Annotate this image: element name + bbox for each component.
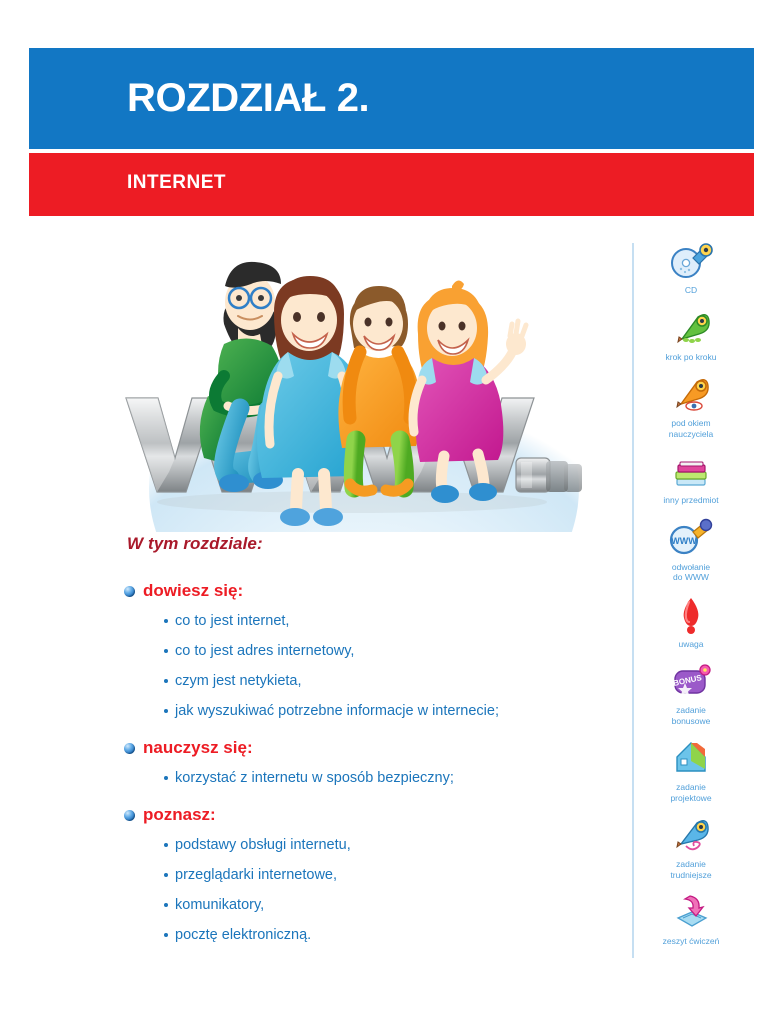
legend-sidebar: CD krok po kroku xyxy=(645,240,737,958)
list-item-label: co to jest internet, xyxy=(175,613,289,629)
legend-item-zadanie-projektowe: zadanie projektowe xyxy=(645,737,737,803)
list-item-label: pocztę elektroniczną. xyxy=(175,927,311,943)
legend-label: zadanie bonusowe xyxy=(645,705,737,726)
list-item: co to jest adres internetowy, xyxy=(175,642,604,661)
section-heading: W tym rozdziale: xyxy=(127,534,604,554)
list-item-label: co to jest adres internetowy, xyxy=(175,643,354,659)
sphere-bullet-icon xyxy=(124,586,135,597)
chapter-banner-red: INTERNET xyxy=(29,153,754,216)
svg-text:WWW: WWW xyxy=(671,536,697,546)
group-title-poznasz: poznasz: xyxy=(124,804,604,826)
objective-list: korzystać z internetu w sposób bezpieczn… xyxy=(124,769,604,788)
objective-group: dowiesz się: co to jest internet, co to … xyxy=(124,580,604,721)
dot-bullet-icon xyxy=(164,619,168,623)
dot-bullet-icon xyxy=(164,903,168,907)
book-stack-icon xyxy=(645,450,737,492)
blue-pen-icon xyxy=(645,814,737,856)
legend-item-uwaga: uwaga xyxy=(645,594,737,650)
list-item: przeglądarki internetowe, xyxy=(175,866,604,885)
objective-group: nauczysz się: korzystać z internetu w sp… xyxy=(124,737,604,788)
objective-list: co to jest internet, co to jest adres in… xyxy=(124,612,604,721)
legend-label: zadanie trudniejsze xyxy=(645,859,737,880)
group-title-label: nauczysz się: xyxy=(143,738,253,757)
chapter-banner-blue: ROZDZIAŁ 2. xyxy=(29,48,754,149)
list-item-label: podstawy obsługi internetu, xyxy=(175,837,351,853)
house-icon xyxy=(645,737,737,779)
legend-label: zadanie projektowe xyxy=(645,782,737,803)
www-magnifier-icon: WWW xyxy=(645,517,737,559)
group-title-label: poznasz: xyxy=(143,805,216,824)
dot-bullet-icon xyxy=(164,933,168,937)
legend-item-pod-okiem-nauczyciela: pod okiem nauczyciela xyxy=(645,373,737,439)
legend-item-zadanie-bonusowe: BONUS zadanie bonusowe xyxy=(645,660,737,726)
dot-bullet-icon xyxy=(164,679,168,683)
list-item-label: korzystać z internetu w sposób bezpieczn… xyxy=(175,770,454,786)
orange-pen-eye-icon xyxy=(645,373,737,415)
list-item: korzystać z internetu w sposób bezpieczn… xyxy=(175,769,604,788)
list-item-label: komunikatory, xyxy=(175,897,264,913)
legend-label: odwołanie do WWW xyxy=(645,562,737,583)
chapter-contents: W tym rozdziale: dowiesz się: co to jest… xyxy=(124,534,604,961)
list-item: jak wyszukiwać potrzebne informacje w in… xyxy=(175,702,604,721)
group-title-nauczysz-sie: nauczysz się: xyxy=(124,737,604,759)
list-item-label: jak wyszukiwać potrzebne informacje w in… xyxy=(175,703,499,719)
page-title: ROZDZIAŁ 2. xyxy=(127,74,369,122)
bonus-badge-icon: BONUS xyxy=(645,660,737,702)
legend-label: inny przedmiot xyxy=(645,495,737,506)
list-item: co to jest internet, xyxy=(175,612,604,631)
sphere-bullet-icon xyxy=(124,810,135,821)
cd-disc-icon xyxy=(645,240,737,282)
chapter-subtitle: INTERNET xyxy=(127,172,226,194)
legend-label: CD xyxy=(645,285,737,296)
sphere-bullet-icon xyxy=(124,743,135,754)
www-kids-illustration xyxy=(112,240,612,532)
legend-item-odwolanie-do-www: WWW odwołanie do WWW xyxy=(645,517,737,583)
list-item: czym jest netykieta, xyxy=(175,672,604,691)
objective-group: poznasz: podstawy obsługi internetu, prz… xyxy=(124,804,604,945)
legend-item-krok-po-kroku: krok po kroku xyxy=(645,307,737,363)
list-item: komunikatory, xyxy=(175,896,604,915)
legend-label: zeszyt ćwiczeń xyxy=(645,936,737,947)
legend-item-zadanie-trudniejsze: zadanie trudniejsze xyxy=(645,814,737,880)
group-title-label: dowiesz się: xyxy=(143,581,243,600)
legend-label: uwaga xyxy=(645,639,737,650)
legend-label: pod okiem nauczyciela xyxy=(645,418,737,439)
list-item: podstawy obsługi internetu, xyxy=(175,836,604,855)
waving-hand xyxy=(506,321,526,355)
exercise-book-icon xyxy=(645,891,737,933)
legend-item-zeszyt-cwiczen: zeszyt ćwiczeń xyxy=(645,891,737,947)
list-item-label: czym jest netykieta, xyxy=(175,673,302,689)
objective-list: podstawy obsługi internetu, przeglądarki… xyxy=(124,836,604,945)
sidebar-divider xyxy=(632,243,634,958)
legend-label: krok po kroku xyxy=(645,352,737,363)
legend-item-cd: CD xyxy=(645,240,737,296)
dot-bullet-icon xyxy=(164,649,168,653)
green-pen-icon xyxy=(645,307,737,349)
dot-bullet-icon xyxy=(164,843,168,847)
list-item-label: przeglądarki internetowe, xyxy=(175,867,337,883)
group-title-dowiesz-sie: dowiesz się: xyxy=(124,580,604,602)
dot-bullet-icon xyxy=(164,776,168,780)
exclamation-mark-icon xyxy=(645,594,737,636)
list-item: pocztę elektroniczną. xyxy=(175,926,604,945)
legend-item-inny-przedmiot: inny przedmiot xyxy=(645,450,737,506)
dot-bullet-icon xyxy=(164,709,168,713)
dot-bullet-icon xyxy=(164,873,168,877)
